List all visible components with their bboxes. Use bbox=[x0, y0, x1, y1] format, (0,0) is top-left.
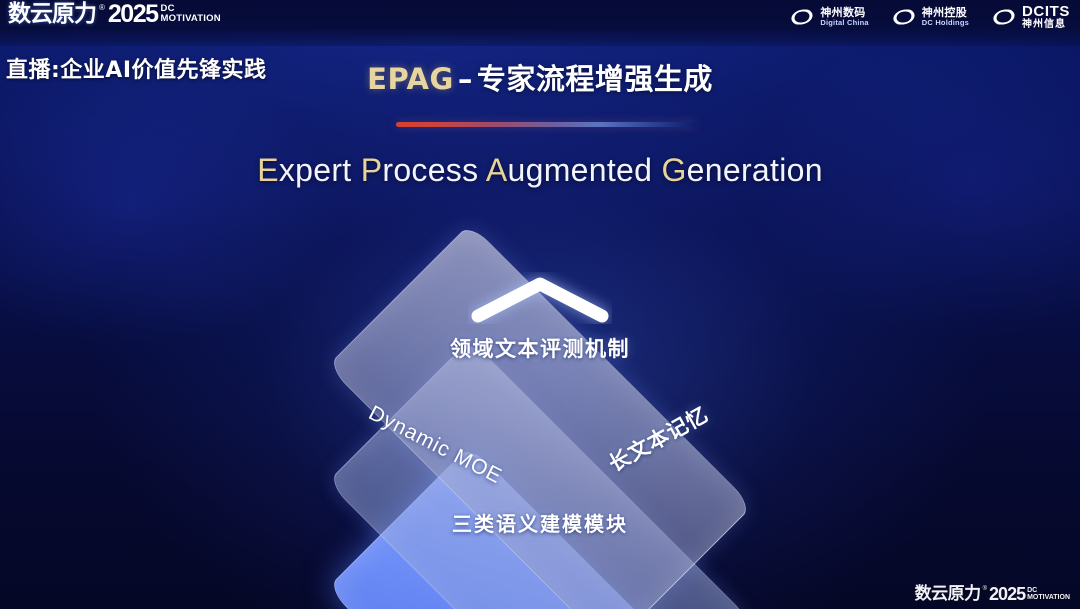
subtitle-cap: G bbox=[661, 152, 686, 188]
watermark-registered-mark: ® bbox=[983, 586, 987, 592]
subtitle-cap: E bbox=[257, 152, 279, 188]
title-chinese: 专家流程增强生成 bbox=[477, 62, 713, 96]
diagram-label-top: 领域文本评测机制 bbox=[0, 333, 1080, 363]
partner-name-cn: 神州信息 bbox=[1022, 20, 1070, 31]
subtitle-rest: ugmented bbox=[508, 152, 653, 188]
partner-name-en: DC Holdings bbox=[922, 19, 969, 27]
subtitle: Expert Process Augmented Generation bbox=[0, 152, 1080, 189]
watermark-subtext: DC MOTIVATION bbox=[1027, 587, 1070, 601]
swirl-logo-icon bbox=[789, 7, 815, 27]
subtitle-cap: A bbox=[486, 152, 508, 188]
watermark-year: 2025 bbox=[989, 586, 1025, 603]
brand-logo: 数云原力 ® 2025 DC MOTIVATION bbox=[8, 3, 221, 27]
subtitle-word-process: Process bbox=[361, 152, 479, 188]
watermark-sub-line1: DC bbox=[1027, 587, 1070, 594]
partner-label: 神州控股 DC Holdings bbox=[922, 7, 969, 26]
brand-subtext: DC MOTIVATION bbox=[161, 4, 221, 23]
swirl-logo-icon bbox=[991, 7, 1017, 27]
subtitle-cap: P bbox=[361, 152, 383, 188]
subtitle-word-expert: Expert bbox=[257, 152, 351, 188]
watermark-sub-line2: MOTIVATION bbox=[1027, 594, 1070, 601]
partner-label: 神州数码 Digital China bbox=[820, 7, 868, 26]
partner-label: DCITS 神州信息 bbox=[1022, 4, 1070, 30]
live-stream-title: 直播:企业AI价值先锋实践 bbox=[6, 52, 267, 84]
footer-watermark-logo: 数云原力 ® 2025 DC MOTIVATION bbox=[915, 586, 1070, 603]
partner-logo-group: 神州数码 Digital China 神州控股 DC Holdings DCIT… bbox=[789, 4, 1070, 30]
title-dash: – bbox=[454, 62, 477, 96]
subtitle-rest: rocess bbox=[382, 152, 478, 188]
subtitle-word-augmented: Augmented bbox=[486, 152, 652, 188]
partner-logo-digital-china: 神州数码 Digital China bbox=[789, 7, 868, 27]
subtitle-rest: xpert bbox=[279, 152, 352, 188]
title-acronym: EPAG bbox=[367, 62, 454, 96]
partner-logo-dcits: DCITS 神州信息 bbox=[991, 4, 1070, 30]
partner-logo-dc-holdings: 神州控股 DC Holdings bbox=[891, 7, 969, 27]
brand-sub-line2: MOTIVATION bbox=[161, 14, 221, 24]
subtitle-rest: eneration bbox=[687, 152, 823, 188]
chevron-up-icon bbox=[468, 272, 612, 324]
slide-stage: 数云原力 ® 2025 DC MOTIVATION 直播:企业AI价值先锋实践 … bbox=[0, 0, 1080, 609]
partner-name-en: DCITS bbox=[1022, 4, 1070, 20]
brand-registered-mark: ® bbox=[99, 4, 105, 12]
subtitle-word-generation: Generation bbox=[661, 152, 822, 188]
watermark-name-cn: 数云原力 bbox=[915, 586, 981, 603]
brand-name-cn: 数云原力 bbox=[8, 3, 96, 26]
brand-year: 2025 bbox=[108, 3, 158, 27]
title-divider bbox=[396, 122, 696, 127]
swirl-logo-icon bbox=[891, 7, 917, 27]
partner-name-en: Digital China bbox=[820, 19, 868, 27]
diagram-label-bottom: 三类语义建模模块 bbox=[0, 508, 1080, 537]
